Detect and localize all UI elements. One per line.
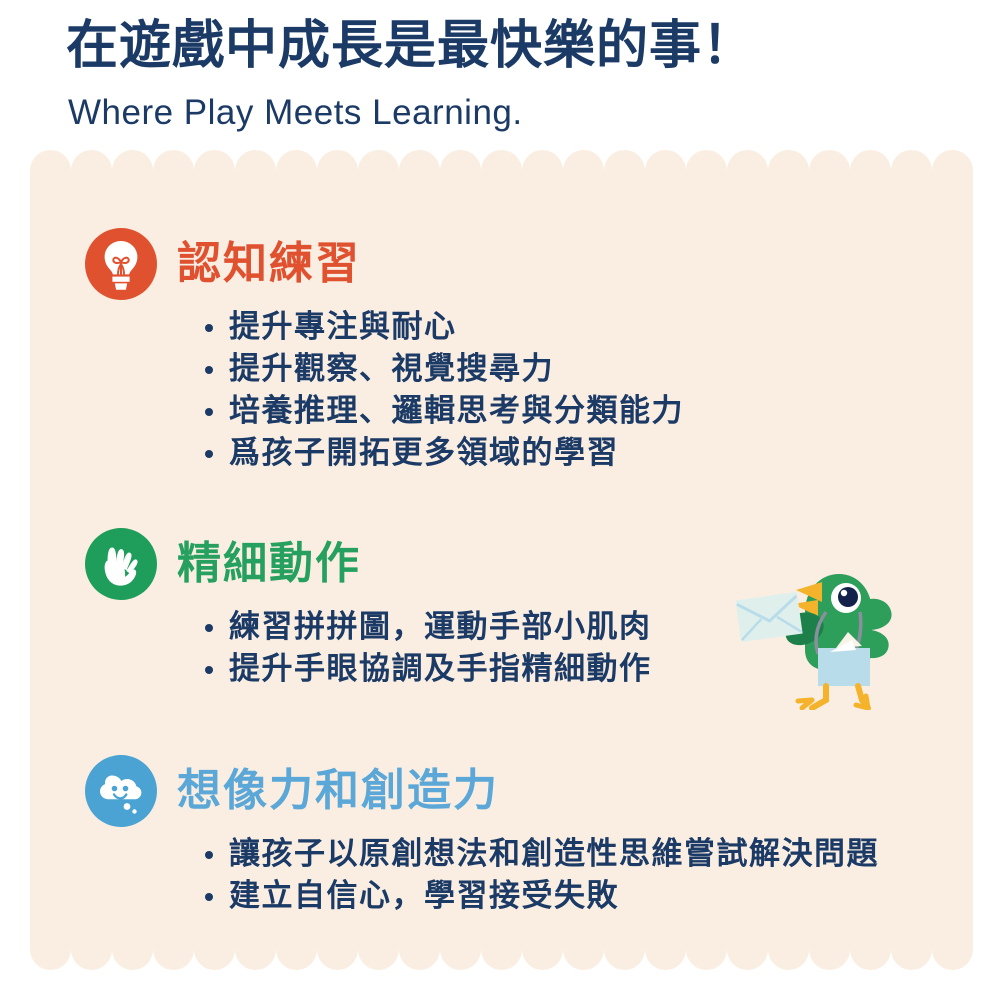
list-item: 培養推理、邏輯思考與分類能力 xyxy=(203,390,684,432)
benefit-list: 提升專注與耐心 提升觀察、視覺搜尋力 培養推理、邏輯思考與分類能力 爲孩子開拓更… xyxy=(85,306,684,473)
scallop-bump xyxy=(194,928,235,970)
scallop-bump xyxy=(727,928,768,970)
envelope-icon xyxy=(735,592,802,642)
mail-carrier-bird-illustration xyxy=(730,560,940,710)
scallop-bump xyxy=(30,928,71,970)
section-header: 想像力和創造力 xyxy=(85,755,879,827)
list-item: 爲孩子開拓更多領域的學習 xyxy=(203,432,684,474)
list-item: 提升觀察、視覺搜尋力 xyxy=(203,348,684,390)
section-imagination-creativity: 想像力和創造力 讓孩子以原創想法和創造性思維嘗試解決問題 建立自信心，學習接受失… xyxy=(85,755,879,917)
scallop-bump xyxy=(481,928,522,970)
list-item: 練習拼拼圖，運動手部小肌肉 xyxy=(203,606,652,648)
section-cognitive-training: 認知練習 提升專注與耐心 提升觀察、視覺搜尋力 培養推理、邏輯思考與分類能力 爲… xyxy=(85,228,684,473)
scallop-bump xyxy=(112,928,153,970)
section-title: 認知練習 xyxy=(177,242,361,286)
benefit-list: 練習拼拼圖，運動手部小肌肉 提升手眼協調及手指精細動作 xyxy=(85,606,652,690)
scallop-bump xyxy=(153,928,194,970)
scallop-bump xyxy=(399,928,440,970)
scallop-bump xyxy=(235,928,276,970)
section-header: 認知練習 xyxy=(85,228,684,300)
scallop-bump xyxy=(276,928,317,970)
scallop-bump xyxy=(686,928,727,970)
scallop-bump xyxy=(932,928,973,970)
section-title: 想像力和創造力 xyxy=(177,769,499,813)
list-item: 讓孩子以原創想法和創造性思維嘗試解決問題 xyxy=(203,833,879,875)
section-title: 精細動作 xyxy=(177,542,361,586)
scallop-bump xyxy=(71,928,112,970)
benefit-list: 讓孩子以原創想法和創造性思維嘗試解決問題 建立自信心，學習接受失敗 xyxy=(85,833,879,917)
scallop-bump xyxy=(645,928,686,970)
scallop-bump xyxy=(891,928,932,970)
scallop-bump xyxy=(522,928,563,970)
section-header: 精細動作 xyxy=(85,528,652,600)
scallop-bump xyxy=(563,928,604,970)
lightbulb-icon xyxy=(85,228,157,300)
scallop-bump xyxy=(317,928,358,970)
page-header: 在遊戲中成長是最快樂的事！ Where Play Meets Learning. xyxy=(0,0,1000,150)
scallop-bump xyxy=(768,928,809,970)
scallop-bump xyxy=(850,928,891,970)
thought-cloud-face-icon xyxy=(85,755,157,827)
list-item: 提升專注與耐心 xyxy=(203,306,684,348)
list-item: 提升手眼協調及手指精細動作 xyxy=(203,648,652,690)
scallop-bump xyxy=(440,928,481,970)
page-subtitle-english: Where Play Meets Learning. xyxy=(68,94,523,133)
open-hand-icon xyxy=(85,528,157,600)
page-title-chinese: 在遊戲中成長是最快樂的事！ xyxy=(66,18,755,75)
section-fine-motor-skills: 精細動作 練習拼拼圖，運動手部小肌肉 提升手眼協調及手指精細動作 xyxy=(85,528,652,690)
scallop-bump xyxy=(358,928,399,970)
scallop-bump xyxy=(604,928,645,970)
card-scallop-edge-bottom xyxy=(30,928,973,970)
card-body: 認知練習 提升專注與耐心 提升觀察、視覺搜尋力 培養推理、邏輯思考與分類能力 爲… xyxy=(30,170,973,950)
feature-card: 認知練習 提升專注與耐心 提升觀察、視覺搜尋力 培養推理、邏輯思考與分類能力 爲… xyxy=(30,150,973,970)
scallop-bump xyxy=(809,928,850,970)
list-item: 建立自信心，學習接受失敗 xyxy=(203,875,879,917)
